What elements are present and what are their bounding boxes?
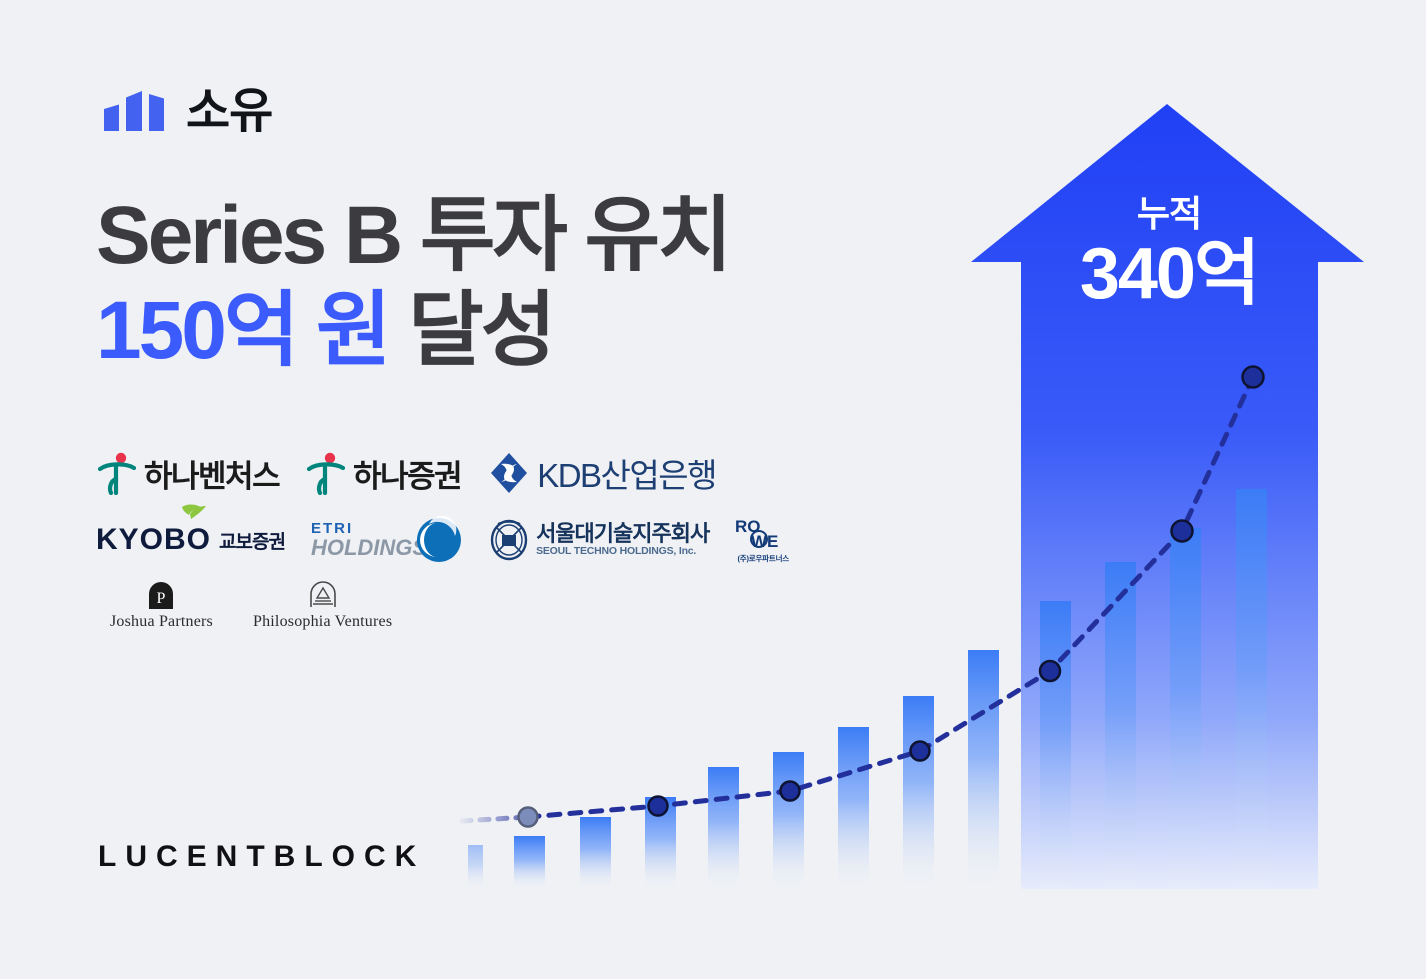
bar bbox=[838, 727, 869, 889]
investor-name: KYOBO bbox=[96, 523, 211, 557]
investor-row-2: KYOBO 교보증권 ETRI HOLDINGS bbox=[96, 514, 791, 566]
investor-name-sub: SEOUL TECHNO HOLDINGS, Inc. bbox=[536, 546, 696, 558]
rowe-mark-icon: RO WE bbox=[735, 517, 791, 551]
poster-canvas: 누적 340억 소유 Series B 투자 유치 150억 원 달성 bbox=[0, 0, 1426, 979]
headline-line-1: Series B 투자 유치 bbox=[96, 188, 730, 283]
bar bbox=[708, 767, 739, 889]
investor-logo-kdb: KDB산업은행 bbox=[487, 449, 716, 497]
bar bbox=[1236, 489, 1267, 889]
investor-logo-kyobo: KYOBO 교보증권 bbox=[96, 523, 285, 557]
company-wordmark: LUCENTBLOCK bbox=[98, 840, 425, 874]
page-title: Series B 투자 유치 150억 원 달성 bbox=[96, 188, 730, 378]
investor-logo-hana-ventures: 하나벤처스 bbox=[96, 451, 279, 496]
investor-name: 서울대기술지주회사 bbox=[536, 522, 709, 546]
etri-swoosh-icon bbox=[415, 516, 463, 564]
bar bbox=[968, 650, 999, 889]
investor-name: 하나벤처스 bbox=[144, 451, 279, 496]
investor-name: Philosophia Ventures bbox=[253, 613, 392, 631]
investor-logo-snu-techno-holdings: 서울대기술지주회사 SEOUL TECHNO HOLDINGS, Inc. bbox=[489, 519, 709, 561]
investor-name: ETRI bbox=[311, 521, 353, 536]
trend-point bbox=[911, 742, 930, 761]
hana-figure-icon bbox=[305, 451, 347, 495]
investor-name-sub: 교보증권 bbox=[219, 527, 285, 554]
philosophia-ventures-icon bbox=[308, 581, 338, 609]
investor-logo-hana-securities: 하나증권 bbox=[305, 451, 461, 496]
brand-name: 소유 bbox=[186, 88, 272, 136]
headline-line-2: 150억 원 달성 bbox=[96, 283, 730, 378]
investor-logo-etri-holdings: ETRI HOLDINGS bbox=[311, 516, 463, 564]
trend-point bbox=[1243, 367, 1264, 388]
investor-logo-rowe-partners: RO WE (주)로우파트너스 bbox=[735, 517, 791, 563]
hana-figure-icon bbox=[96, 451, 138, 495]
investor-name-sub: (주)로우파트너스 bbox=[737, 554, 789, 563]
svg-text:P: P bbox=[157, 590, 166, 607]
trend-point bbox=[519, 808, 538, 827]
investor-name: KDB산업은행 bbox=[537, 449, 716, 497]
investor-logo-philosophia-ventures: Philosophia Ventures bbox=[253, 581, 392, 631]
trend-point bbox=[1172, 521, 1193, 542]
kdb-diamond-icon bbox=[487, 451, 531, 495]
investor-name: Joshua Partners bbox=[110, 613, 213, 631]
bar bbox=[514, 836, 545, 889]
trend-point bbox=[781, 782, 800, 801]
trend-point bbox=[649, 797, 668, 816]
investor-name: 하나증권 bbox=[353, 451, 461, 496]
bar bbox=[580, 817, 611, 889]
joshua-partners-icon: P bbox=[146, 581, 176, 609]
snu-emblem-icon bbox=[489, 519, 529, 561]
bar bbox=[468, 845, 483, 889]
headline-suffix: 달성 bbox=[388, 285, 553, 376]
bar-chart-logo-icon bbox=[102, 87, 168, 133]
investor-name-sub: HOLDINGS bbox=[311, 536, 427, 559]
bar bbox=[1170, 528, 1201, 889]
cumulative-arrow bbox=[971, 104, 1364, 889]
headline-highlight: 150억 원 bbox=[96, 285, 388, 376]
investor-row-1: 하나벤처스 하나증권 KDB산업은행 bbox=[96, 448, 791, 498]
bar bbox=[1040, 601, 1071, 889]
investor-logo-joshua-partners: P Joshua Partners bbox=[110, 581, 213, 631]
investor-row-3: P Joshua Partners Philosophia Ventures bbox=[96, 582, 791, 630]
bar bbox=[773, 752, 804, 889]
kyobo-leaf-icon bbox=[178, 503, 208, 525]
brand-lockup: 소유 bbox=[102, 86, 272, 134]
bar bbox=[903, 696, 934, 889]
investor-logo-grid: 하나벤처스 하나증권 KDB산업은행 bbox=[96, 448, 791, 630]
trend-point bbox=[1040, 661, 1060, 681]
